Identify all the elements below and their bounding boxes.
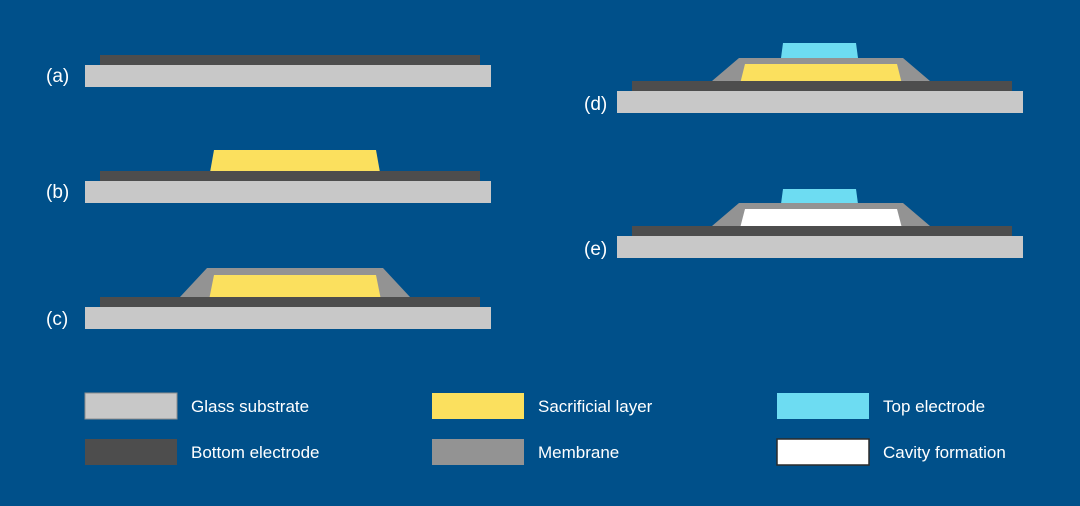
legend-swatch-bottom-electrode (85, 439, 177, 465)
panel-b-bottom-electrode (100, 171, 480, 181)
legend-item-glass-substrate: Glass substrate (85, 393, 309, 419)
legend-swatch-top-electrode (777, 393, 869, 419)
panel-a-glass-substrate (85, 65, 491, 87)
panel-a: (a) (46, 55, 491, 87)
legend-item-bottom-electrode: Bottom electrode (85, 439, 320, 465)
panel-d-glass-substrate (617, 91, 1023, 113)
legend-item-sacrificial-layer: Sacrificial layer (432, 393, 653, 419)
panel-c-label: (c) (46, 309, 68, 330)
legend-label-sacrificial-layer: Sacrificial layer (538, 397, 653, 416)
legend-swatch-cavity-formation (777, 439, 869, 465)
panel-b-label: (b) (46, 182, 69, 203)
legend-item-cavity-formation: Cavity formation (777, 439, 1006, 465)
panel-e-glass-substrate (617, 236, 1023, 258)
panel-e-bottom-electrode (632, 226, 1012, 236)
panel-a-bottom-electrode (100, 55, 480, 65)
panel-c-bottom-electrode (100, 297, 480, 307)
panel-b-glass-substrate (85, 181, 491, 203)
panel-e-top-electrode (781, 189, 858, 204)
legend-swatch-membrane (432, 439, 524, 465)
panel-c-glass-substrate (85, 307, 491, 329)
legend-swatch-sacrificial-layer (432, 393, 524, 419)
panel-e-label: (e) (584, 239, 607, 260)
legend-label-bottom-electrode: Bottom electrode (191, 443, 320, 462)
legend-swatch-glass-substrate (85, 393, 177, 419)
process-flow-figure: (a) (b) (c) (d) (0, 0, 1080, 506)
panel-d-label: (d) (584, 94, 607, 115)
legend-label-membrane: Membrane (538, 443, 619, 462)
diagram-canvas: (a) (b) (c) (d) (0, 0, 1080, 506)
panel-d-bottom-electrode (632, 81, 1012, 91)
panel-c-sacrificial-layer (209, 275, 381, 300)
legend-label-glass-substrate: Glass substrate (191, 397, 309, 416)
panel-a-label: (a) (46, 66, 69, 87)
legend-label-cavity-formation: Cavity formation (883, 443, 1006, 462)
panel-d-top-electrode (781, 43, 858, 58)
legend-label-top-electrode: Top electrode (883, 397, 985, 416)
